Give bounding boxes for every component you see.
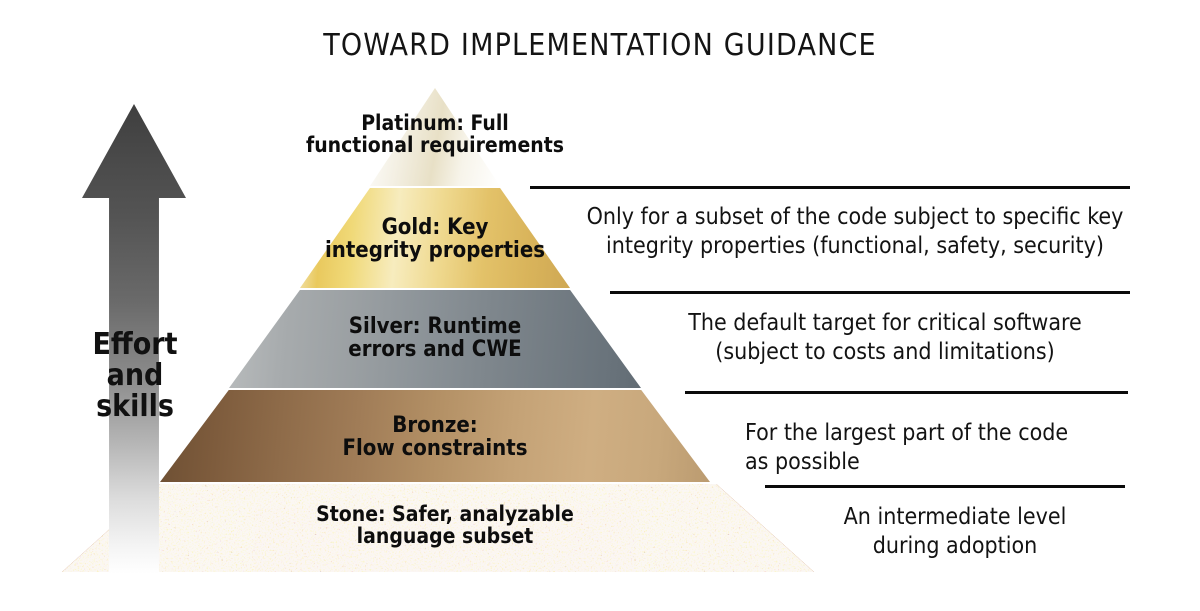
- pyramid-level-stone[interactable]: [62, 484, 814, 572]
- divider-silver: [610, 291, 1130, 294]
- description-silver: The default target for critical software…: [640, 309, 1130, 366]
- pyramid-level-bronze[interactable]: [160, 390, 710, 482]
- pyramid-level-platinum[interactable]: [370, 88, 500, 186]
- description-bronze: For the largest part of the code as poss…: [745, 419, 1145, 476]
- description-stone-line1: An intermediate level: [790, 503, 1120, 532]
- diagram-canvas: TOWARD IMPLEMENTATION GUIDANCE Platinum:…: [0, 0, 1200, 611]
- description-gold-line2: integrity properties (functional, safety…: [570, 232, 1140, 261]
- description-stone-line2: during adoption: [790, 532, 1120, 561]
- description-bronze-line2: as possible: [745, 448, 1145, 477]
- divider-gold: [530, 186, 1130, 189]
- description-bronze-line1: For the largest part of the code: [745, 419, 1145, 448]
- description-gold-line1: Only for a subset of the code subject to…: [570, 203, 1140, 232]
- description-silver-line1: The default target for critical software: [640, 309, 1130, 338]
- effort-label-line3: skills: [60, 392, 210, 423]
- divider-stone: [765, 485, 1125, 488]
- description-gold: Only for a subset of the code subject to…: [570, 203, 1140, 260]
- pyramid-level-gold[interactable]: [300, 188, 570, 288]
- description-silver-line2: (subject to costs and limitations): [640, 338, 1130, 367]
- effort-label-line2: and: [60, 361, 210, 392]
- pyramid-level-silver[interactable]: [229, 290, 641, 388]
- divider-bronze: [685, 391, 1128, 394]
- effort-label-line1: Effort: [60, 330, 210, 361]
- stone-texture-icon: [62, 484, 814, 572]
- description-stone: An intermediate level during adoption: [790, 503, 1120, 560]
- effort-and-skills-label: Effort and skills: [60, 330, 210, 423]
